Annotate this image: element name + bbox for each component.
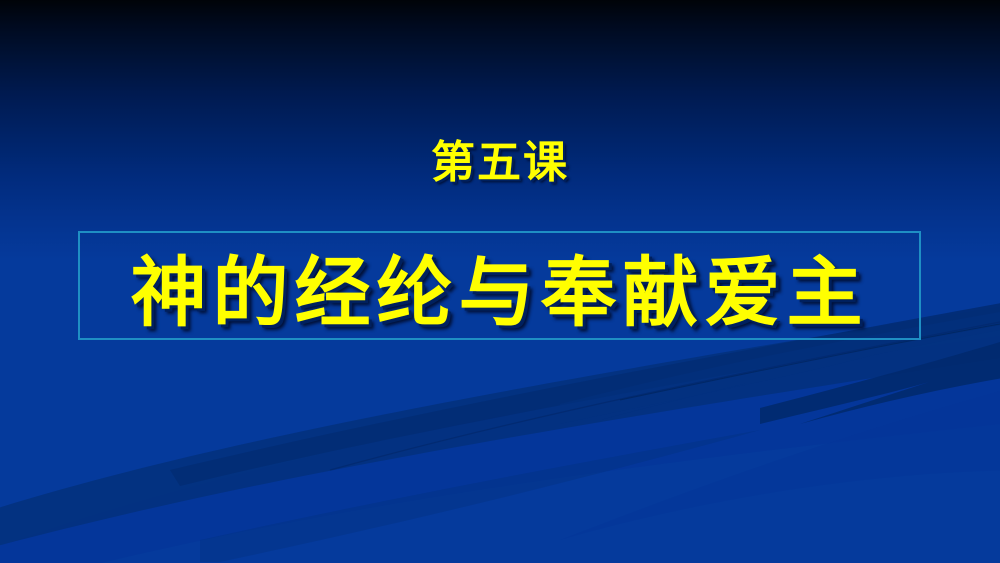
presentation-slide: 第五课 神的经纶与奉献爱主 (0, 0, 1000, 563)
slide-background-gradient (0, 0, 1000, 260)
page-title: 神的经纶与奉献爱主 (78, 231, 921, 340)
lesson-label: 第五课 (0, 140, 1000, 187)
